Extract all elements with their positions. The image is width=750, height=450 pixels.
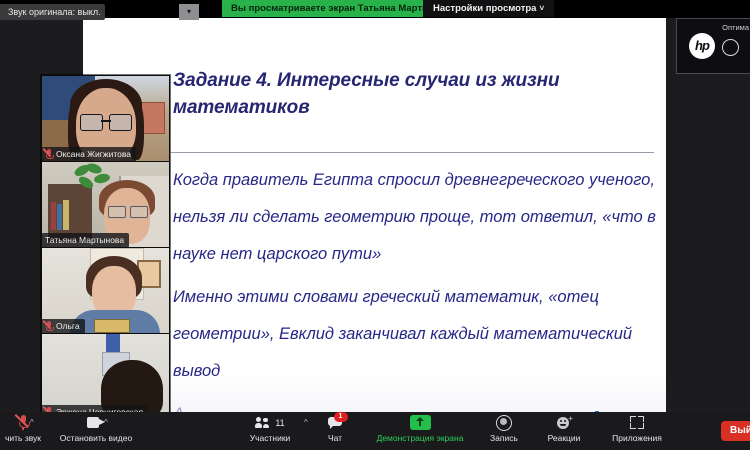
record-icon <box>478 414 530 431</box>
mic-muted-icon <box>45 149 53 159</box>
apps-icon <box>598 414 676 431</box>
participant-name: Оксана Жигжитова <box>56 147 131 161</box>
slide-paragraph-1: Когда правитель Египта спросил древнегре… <box>173 162 663 273</box>
shared-screen-area[interactable]: Задание 4. Интересные случаи из жизни ма… <box>83 18 666 421</box>
participants-icon: 11 <box>235 414 305 431</box>
hp-panel-label: Оптима <box>722 23 749 32</box>
participant-tile[interactable]: Татьяна Мартынова <box>42 162 169 248</box>
share-screen-label: Демонстрация экрана <box>364 433 476 443</box>
participant-name: Ольга <box>56 319 80 333</box>
original-audio-status[interactable]: Звук оригинала: выкл. <box>0 4 105 20</box>
slide-title: Задание 4. Интересные случаи из жизни ма… <box>173 68 653 122</box>
original-audio-dropdown-icon[interactable]: ▾ <box>179 4 199 20</box>
reactions-label: Реакции <box>535 433 593 443</box>
presentation-slide: Задание 4. Интересные случаи из жизни ма… <box>83 18 666 421</box>
mic-options-caret-icon[interactable]: ^ <box>30 418 34 427</box>
participant-tile[interactable]: Эржена Черниговская <box>42 334 169 419</box>
meeting-toolbar: чить звук ^ Остановить видео ^ 11 Участн… <box>0 412 750 450</box>
slide-paragraph-2: Именно этими словами греческий математик… <box>173 279 663 390</box>
chat-icon: 1 <box>313 414 357 431</box>
view-settings-label: Настройки просмотра <box>433 3 536 14</box>
view-settings-button[interactable]: Настройки просмотра˅ <box>423 0 554 17</box>
participant-video-strip[interactable]: Оксана Жигжитова Татьяна Мартынова <box>41 75 170 420</box>
apps-label: Приложения <box>598 433 676 443</box>
participant-tile[interactable]: Оксана Жигжитова <box>42 76 169 162</box>
share-screen-icon <box>364 414 476 431</box>
chat-unread-badge: 1 <box>334 412 348 422</box>
reactions-icon: + <box>535 414 593 431</box>
share-screen-button[interactable]: Демонстрация экрана <box>364 414 476 448</box>
power-button-icon <box>722 39 739 56</box>
participant-name-chip: Ольга <box>42 319 85 333</box>
record-label: Запись <box>478 433 530 443</box>
chat-label: Чат <box>313 433 357 443</box>
slide-body: Когда правитель Египта спросил древнегре… <box>173 162 663 421</box>
chevron-down-icon: ˅ <box>539 4 544 13</box>
participant-name-chip: Татьяна Мартынова <box>42 233 129 247</box>
stop-video-button[interactable]: Остановить видео <box>41 414 151 448</box>
participant-name-chip: Оксана Жигжитова <box>42 147 136 161</box>
chat-button[interactable]: 1 Чат <box>313 414 357 448</box>
leave-meeting-button[interactable]: Выйти <box>721 421 750 441</box>
participants-count: 11 <box>275 418 284 428</box>
zoom-meeting-window: Звук оригинала: выкл. ▾ Вы просматривает… <box>0 0 750 450</box>
hp-device-panel: Оптима hp <box>676 18 750 74</box>
record-button[interactable]: Запись <box>478 414 530 448</box>
participant-name: Татьяна Мартынова <box>45 233 124 247</box>
participants-label: Участники <box>235 433 305 443</box>
participants-button[interactable]: 11 Участники <box>235 414 305 448</box>
stop-video-label: Остановить видео <box>41 433 151 443</box>
camera-icon <box>41 414 151 431</box>
apps-button[interactable]: Приложения <box>598 414 676 448</box>
participants-caret-icon[interactable]: ^ <box>304 418 308 427</box>
participant-tile[interactable]: Ольга <box>42 248 169 334</box>
mic-muted-icon <box>45 321 53 331</box>
reactions-button[interactable]: + Реакции <box>535 414 593 448</box>
slide-title-divider <box>171 152 654 153</box>
hp-logo-icon: hp <box>689 33 715 59</box>
video-options-caret-icon[interactable]: ^ <box>104 418 108 427</box>
